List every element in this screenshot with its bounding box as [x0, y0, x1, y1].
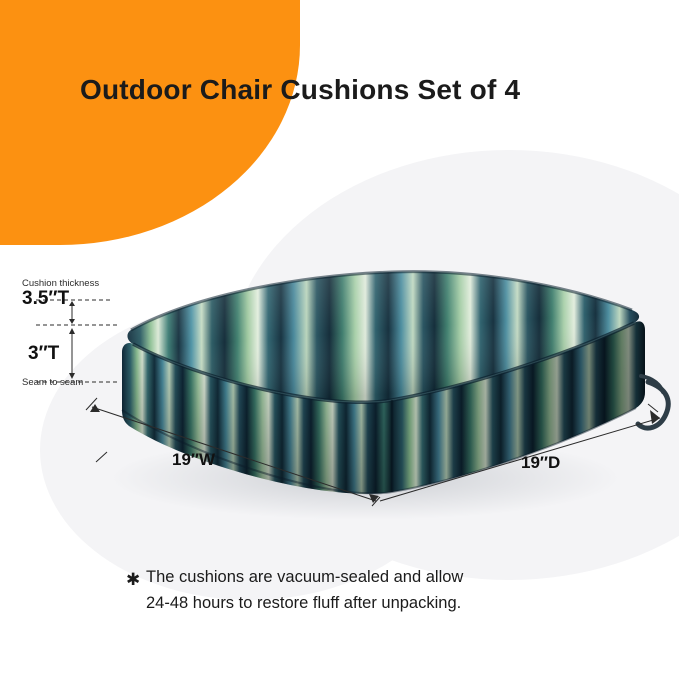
thickness-value: 3.5″T [22, 288, 69, 310]
seam-value: 3″T [28, 343, 59, 365]
product-infographic: Outdoor Chair Cushions Set of 4 [0, 0, 679, 679]
width-value: 19″W [172, 450, 215, 470]
footnote-line-2: 24-48 hours to restore fluff after unpac… [146, 591, 596, 617]
footnote: ✱ The cushions are vacuum-sealed and all… [126, 565, 596, 616]
depth-value: 19″D [521, 453, 560, 473]
asterisk-icon: ✱ [126, 567, 140, 593]
footnote-line-1: The cushions are vacuum-sealed and allow [146, 565, 596, 591]
page-title: Outdoor Chair Cushions Set of 4 [80, 74, 520, 106]
orange-accent-shape [0, 0, 300, 245]
grey-background-shape-left [40, 300, 460, 600]
seam-caption: Seam to seam [22, 377, 83, 388]
